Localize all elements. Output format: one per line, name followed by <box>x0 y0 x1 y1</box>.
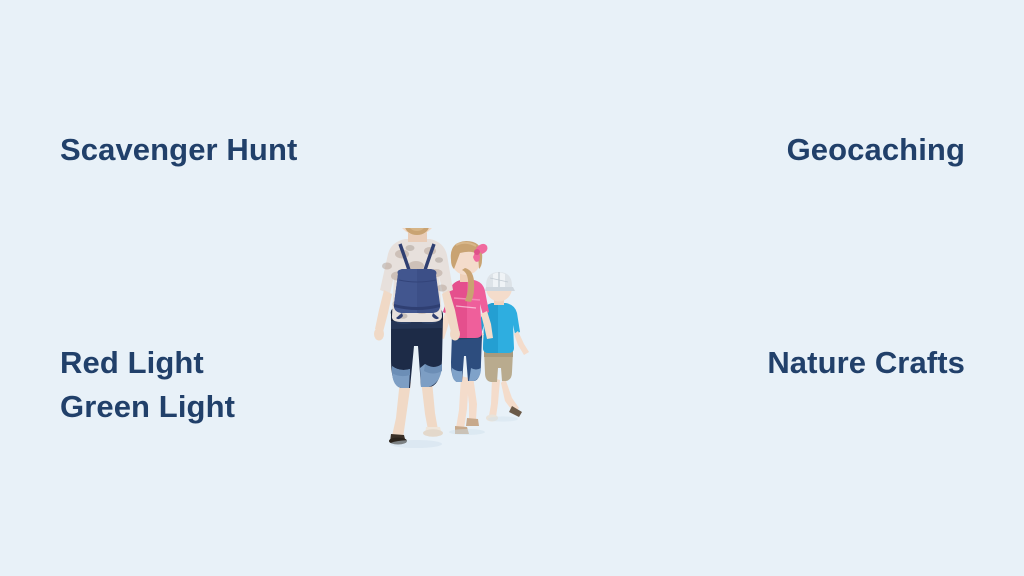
activity-label-red-light-green-light: Red Light Green Light <box>60 341 235 429</box>
figure-woman <box>374 228 460 445</box>
backpack-icon <box>394 269 440 319</box>
activity-label-scavenger-hunt: Scavenger Hunt <box>60 128 297 172</box>
slide-canvas: Scavenger Hunt Geocaching Red Light Gree… <box>0 0 1024 576</box>
family-walking-photo <box>372 228 552 450</box>
ground-shadow <box>390 440 442 448</box>
activity-label-nature-crafts: Nature Crafts <box>767 341 965 385</box>
activity-label-geocaching: Geocaching <box>787 128 965 172</box>
ground-shadow <box>488 416 518 421</box>
family-walking-illustration <box>372 228 552 450</box>
ground-shadow <box>449 429 485 435</box>
